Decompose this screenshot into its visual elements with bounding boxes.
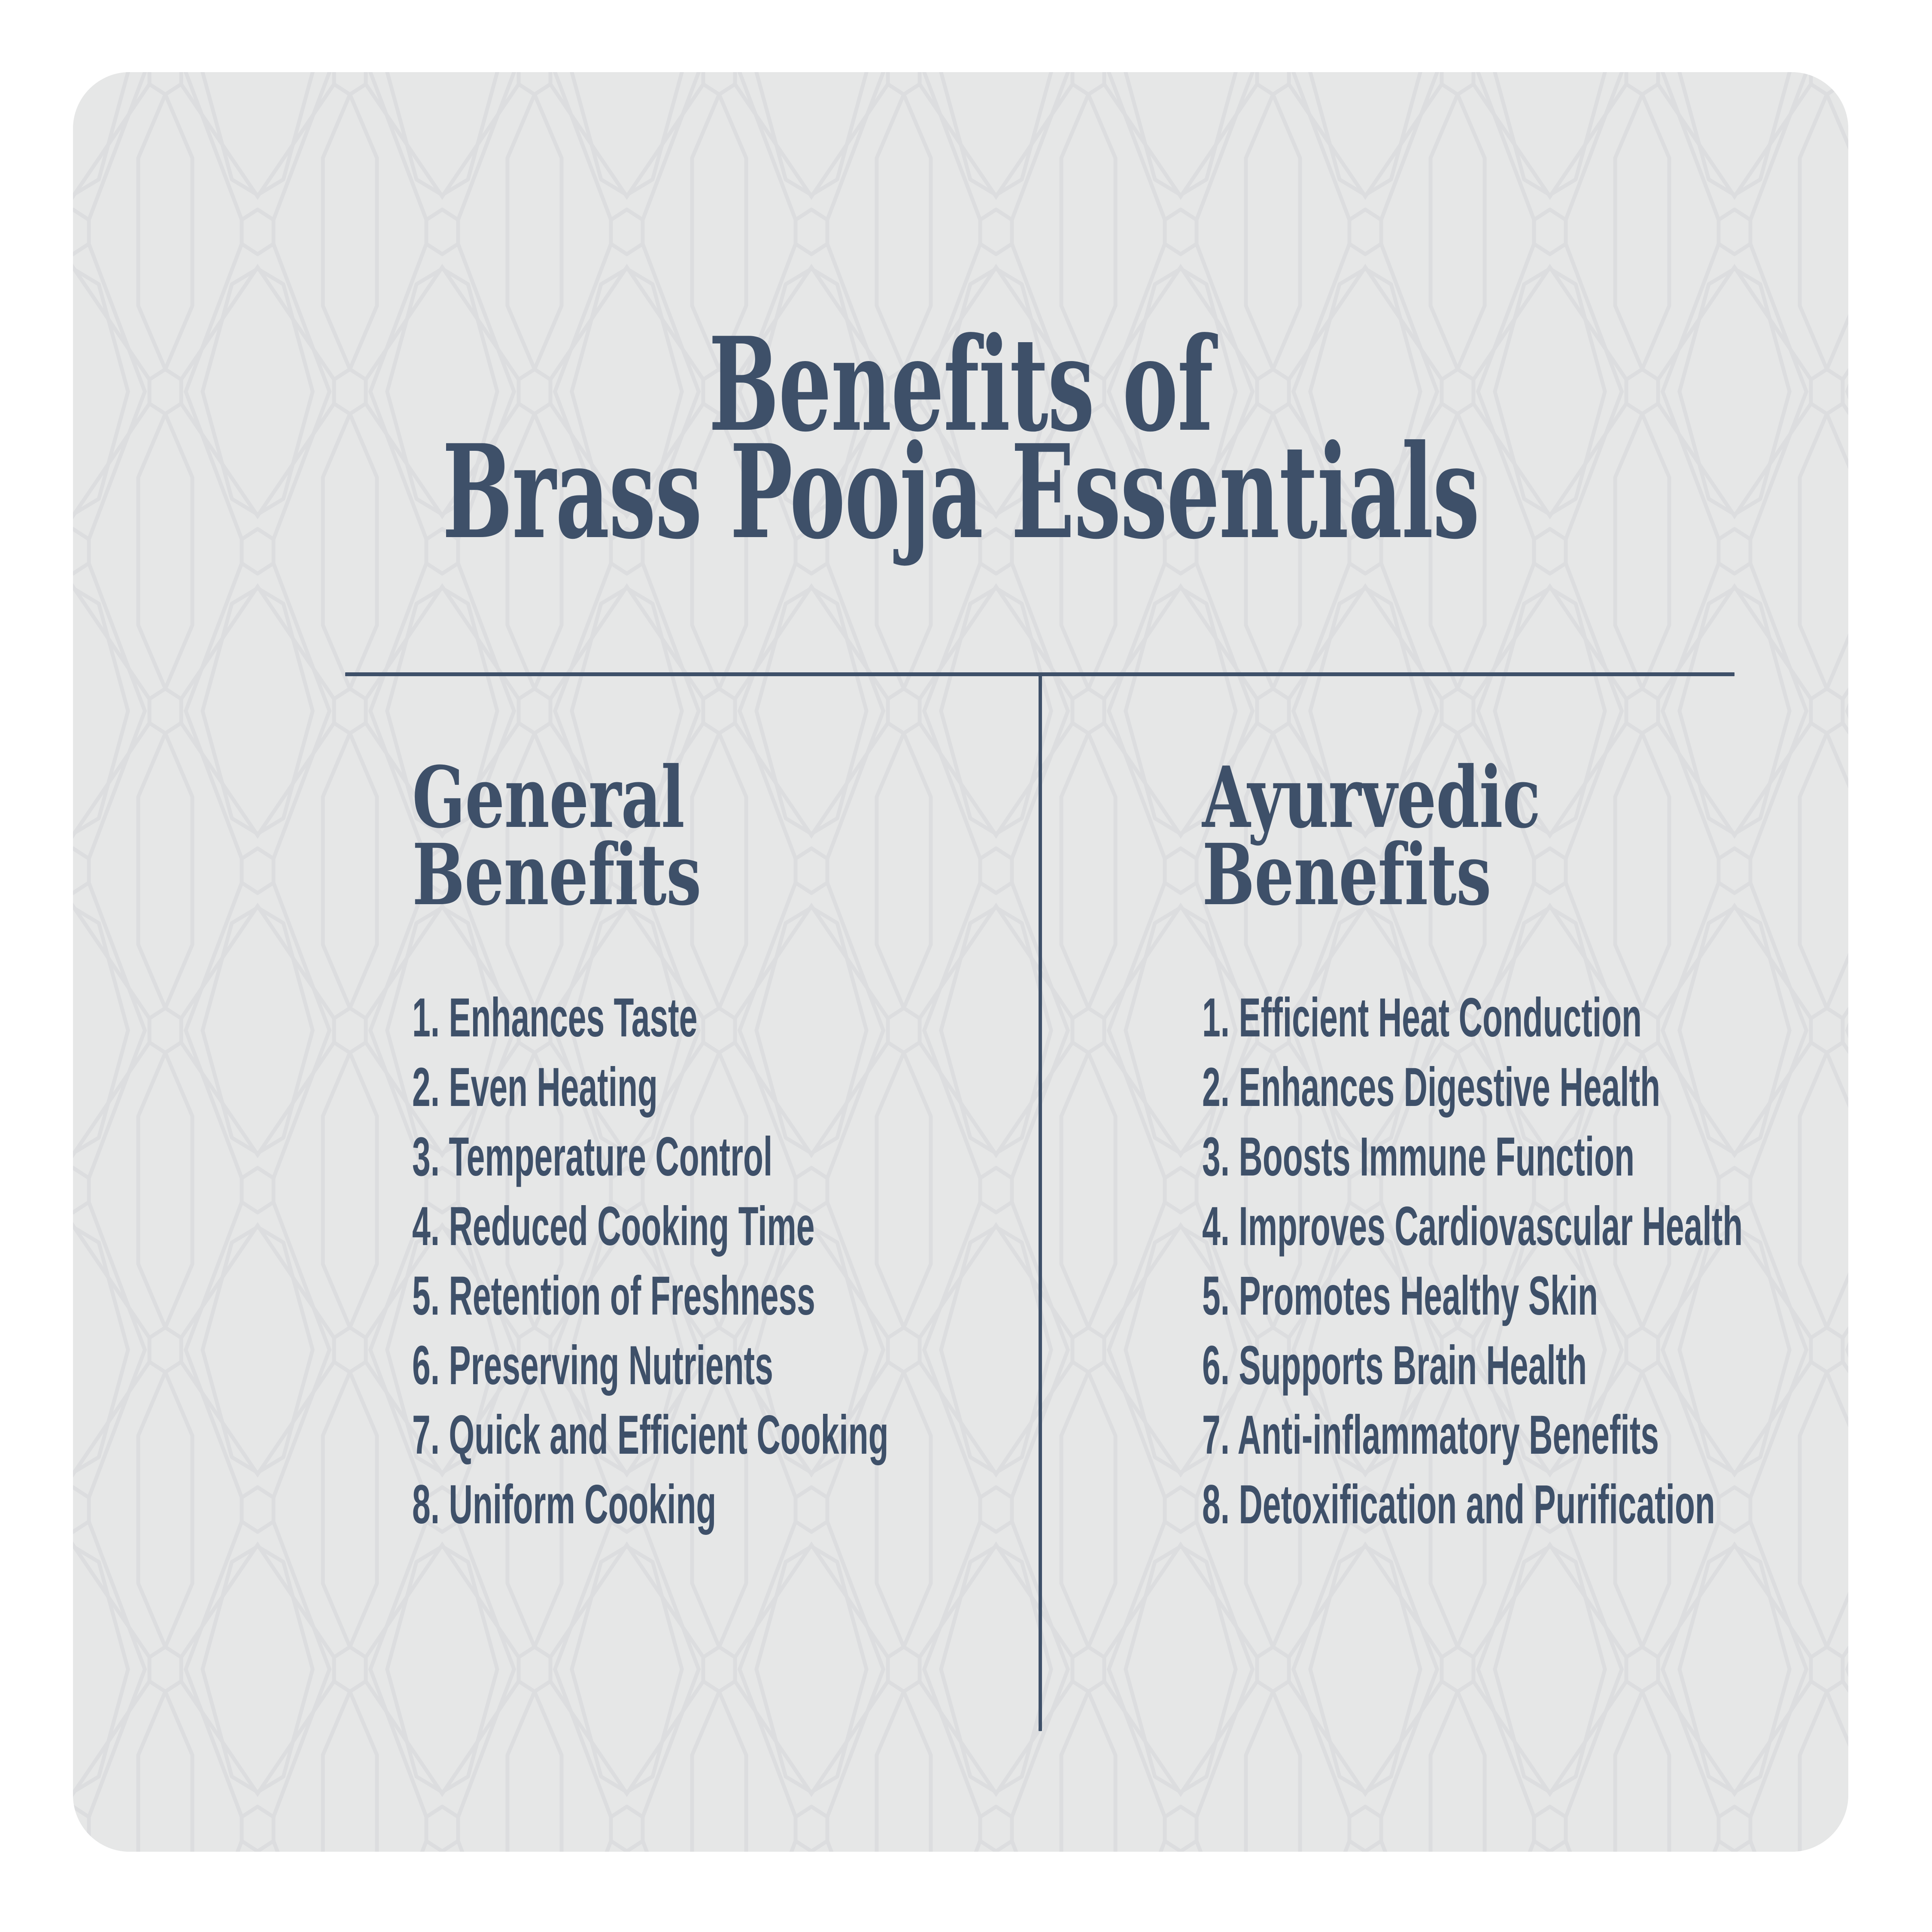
infographic-card: Benefits of Brass Pooja Essentials Gener…	[73, 72, 1848, 1852]
list-item: 2. Enhances Digestive Health	[1202, 1060, 1604, 1115]
list-item: 6. Preserving Nutrients	[412, 1338, 778, 1393]
title-line-secondary: Brass Pooja Essentials	[322, 433, 1600, 551]
list-item: 3. Temperature Control	[412, 1130, 778, 1185]
list-item: 8. Detoxification and Purification	[1202, 1477, 1604, 1532]
list-item: 4. Reduced Cooking Time	[412, 1199, 778, 1254]
list-item: 1. Enhances Taste	[412, 990, 778, 1045]
list-item: 4. Improves Cardiovascular Health	[1202, 1199, 1604, 1254]
vertical-divider	[1039, 672, 1042, 1731]
list-item: 2. Even Heating	[412, 1060, 778, 1115]
list-item: 7. Anti-inflammatory Benefits	[1202, 1408, 1604, 1463]
list-item: 6. Supports Brain Health	[1202, 1338, 1604, 1393]
column-ayurvedic-benefits: Ayurvedic Benefits 1. Efficient Heat Con…	[1202, 759, 1848, 1547]
list-item: 8. Uniform Cooking	[412, 1477, 778, 1532]
column-general-benefits: General Benefits 1. Enhances Taste 2. Ev…	[412, 759, 1022, 1547]
list-item: 1. Efficient Heat Conduction	[1202, 990, 1604, 1045]
list-item: 5. Promotes Healthy Skin	[1202, 1269, 1604, 1324]
list-item: 7. Quick and Efficient Cooking	[412, 1408, 778, 1463]
page-title: Benefits of Brass Pooja Essentials	[73, 325, 1848, 551]
list-item: 5. Retention of Freshness	[412, 1269, 778, 1324]
list-item: 3. Boosts Immune Function	[1202, 1130, 1604, 1185]
benefit-list-ayurvedic: 1. Efficient Heat Conduction 2. Enhances…	[1202, 990, 1848, 1532]
poster-canvas: Benefits of Brass Pooja Essentials Gener…	[0, 0, 1932, 1932]
column-heading-ayurvedic: Ayurvedic Benefits	[1202, 759, 1698, 914]
benefit-list-general: 1. Enhances Taste 2. Even Heating 3. Tem…	[412, 990, 1022, 1532]
column-heading-general: General Benefits	[412, 759, 863, 914]
